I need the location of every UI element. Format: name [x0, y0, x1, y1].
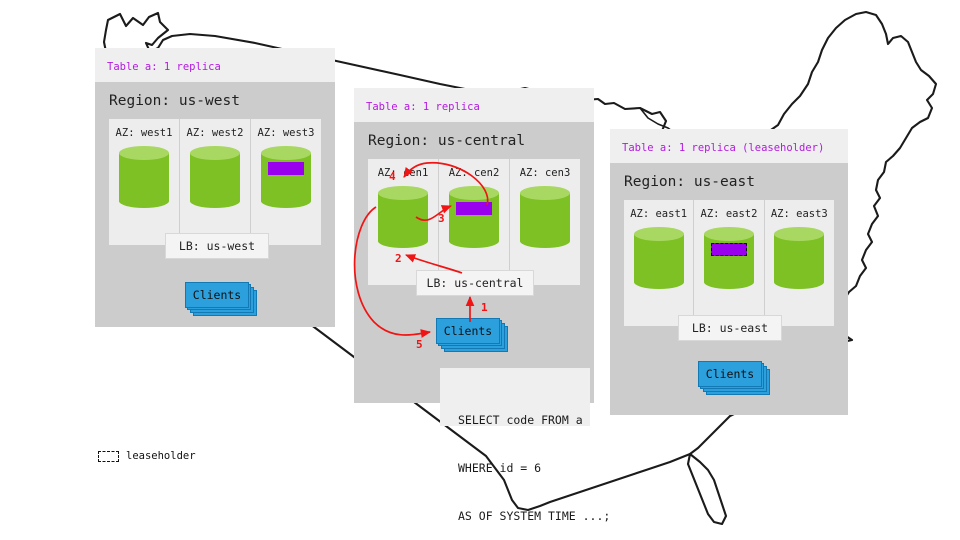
cylinder-body: [261, 153, 311, 201]
node-cylinder-east1[interactable]: [634, 227, 684, 289]
cylinder-body: [704, 234, 754, 282]
node-cylinder-west1[interactable]: [119, 146, 169, 208]
cylinder-top: [520, 186, 570, 200]
replica-range-west3: [268, 162, 304, 175]
clients-label-us-west: Clients: [185, 282, 249, 308]
node-cylinder-cen2[interactable]: [449, 186, 499, 248]
replica-info-label: Table a: 1 replica (leaseholder): [622, 142, 824, 154]
az-label-cen3: AZ: cen3: [520, 167, 571, 179]
load-balancer-us-west[interactable]: LB: us-west: [165, 233, 269, 259]
clients-stack-us-central[interactable]: Clients: [436, 318, 500, 344]
az-cell-west1[interactable]: AZ: west1: [109, 119, 180, 245]
cylinder-body: [119, 153, 169, 201]
region-body-us-central: Region: us-central AZ: cen1 AZ: cen2: [354, 122, 594, 403]
region-panel-us-west: Table a: 1 replica Region: us-west AZ: w…: [95, 48, 335, 327]
sql-line-3: AS OF SYSTEM TIME ...;: [458, 508, 590, 524]
load-balancer-label-us-central: LB: us-central: [427, 276, 524, 290]
az-cell-east3[interactable]: AZ: east3: [765, 200, 834, 326]
az-label-east2: AZ: east2: [701, 208, 758, 220]
clients-label-us-east: Clients: [698, 361, 762, 387]
az-row-us-central: AZ: cen1 AZ: cen2: [368, 159, 580, 285]
az-label-west3: AZ: west3: [258, 127, 315, 139]
cylinder-top: [449, 186, 499, 200]
az-row-us-east: AZ: east1 AZ: east2: [624, 200, 834, 326]
cylinder-body: [634, 234, 684, 282]
leaseholder-range-east2: [711, 243, 747, 256]
node-cylinder-east3[interactable]: [774, 227, 824, 289]
legend-label-leaseholder: leaseholder: [126, 450, 196, 462]
az-label-west1: AZ: west1: [116, 127, 173, 139]
az-cell-cen2[interactable]: AZ: cen2: [439, 159, 510, 285]
az-cell-east1[interactable]: AZ: east1: [624, 200, 694, 326]
az-cell-west2[interactable]: AZ: west2: [180, 119, 251, 245]
cylinder-body: [520, 193, 570, 241]
legend: leaseholder: [98, 450, 196, 462]
az-row-us-west: AZ: west1 AZ: west2 AZ: [109, 119, 321, 245]
replica-info-label: Table a: 1 replica: [107, 61, 221, 73]
clients-stack-us-west[interactable]: Clients: [185, 282, 249, 308]
region-header-us-west: Table a: 1 replica: [95, 48, 335, 82]
cylinder-body: [190, 153, 240, 201]
cylinder-body: [378, 193, 428, 241]
az-label-cen1: AZ: cen1: [378, 167, 429, 179]
load-balancer-us-east[interactable]: LB: us-east: [678, 315, 782, 341]
region-panel-us-east: Table a: 1 replica (leaseholder) Region:…: [610, 129, 848, 415]
az-label-cen2: AZ: cen2: [449, 167, 500, 179]
cylinder-body: [449, 193, 499, 241]
clients-label-us-central: Clients: [436, 318, 500, 344]
load-balancer-label-us-east: LB: us-east: [692, 321, 768, 335]
cylinder-top: [119, 146, 169, 160]
node-cylinder-cen3[interactable]: [520, 186, 570, 248]
cylinder-top: [190, 146, 240, 160]
cylinder-top: [774, 227, 824, 241]
az-label-east3: AZ: east3: [771, 208, 828, 220]
cylinder-top: [634, 227, 684, 241]
region-title-us-east: Region: us-east: [610, 163, 848, 200]
az-cell-west3[interactable]: AZ: west3: [251, 119, 321, 245]
cylinder-top: [378, 186, 428, 200]
region-panel-us-central: Table a: 1 replica Region: us-central AZ…: [354, 88, 594, 403]
leaseholder-swatch-icon: [98, 451, 119, 462]
az-cell-cen1[interactable]: AZ: cen1: [368, 159, 439, 285]
cylinder-top: [704, 227, 754, 241]
cylinder-top: [261, 146, 311, 160]
replica-info-label: Table a: 1 replica: [366, 101, 480, 113]
load-balancer-label-us-west: LB: us-west: [179, 239, 255, 253]
node-cylinder-east2[interactable]: [704, 227, 754, 289]
az-label-west2: AZ: west2: [187, 127, 244, 139]
region-title-us-central: Region: us-central: [354, 122, 594, 159]
sql-query-box: SELECT code FROM a WHERE id = 6 AS OF SY…: [440, 368, 590, 426]
cylinder-body: [774, 234, 824, 282]
clients-stack-us-east[interactable]: Clients: [698, 361, 762, 387]
az-cell-cen3[interactable]: AZ: cen3: [510, 159, 580, 285]
region-header-us-east: Table a: 1 replica (leaseholder): [610, 129, 848, 163]
az-label-east1: AZ: east1: [630, 208, 687, 220]
load-balancer-us-central[interactable]: LB: us-central: [416, 270, 534, 296]
replica-range-cen2: [456, 202, 492, 215]
region-title-us-west: Region: us-west: [95, 82, 335, 119]
node-cylinder-west2[interactable]: [190, 146, 240, 208]
node-cylinder-west3[interactable]: [261, 146, 311, 208]
node-cylinder-cen1[interactable]: [378, 186, 428, 248]
az-cell-east2[interactable]: AZ: east2: [694, 200, 764, 326]
diagram-canvas: Table a: 1 replica Region: us-west AZ: w…: [0, 0, 960, 540]
sql-line-2: WHERE id = 6: [458, 460, 590, 476]
sql-line-1: SELECT code FROM a: [458, 412, 590, 428]
region-header-us-central: Table a: 1 replica: [354, 88, 594, 122]
